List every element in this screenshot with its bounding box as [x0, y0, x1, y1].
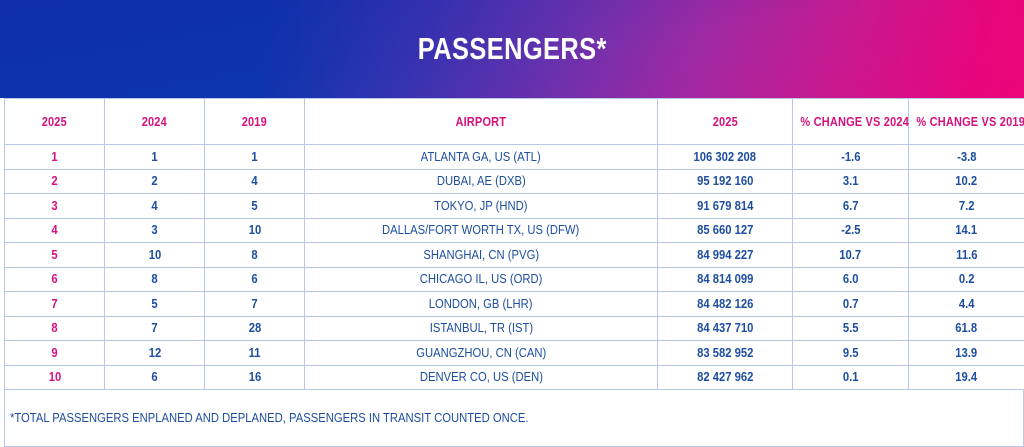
- cell-rank-2025-text: 2: [51, 174, 57, 188]
- cell-rank-2024: 8: [105, 267, 205, 292]
- cell-pct-change-2024: 6.0: [793, 267, 909, 292]
- cell-pct-change-2019: 19.4: [909, 365, 1024, 390]
- cell-pct-change-2024-text: 0.1: [843, 370, 859, 384]
- cell-rank-2019: 1: [205, 145, 305, 170]
- table-body: 111ATLANTA GA, US (ATL)106 302 208-1.6-3…: [5, 145, 1024, 390]
- cell-rank-2024: 3: [105, 218, 205, 243]
- cell-rank-2024: 2: [105, 169, 205, 194]
- cell-passengers-2025-text: 85 660 127: [697, 223, 753, 237]
- table-row: 5108SHANGHAI, CN (PVG)84 994 22710.711.6: [5, 243, 1024, 268]
- cell-rank-2024: 5: [105, 292, 205, 317]
- cell-rank-2024-text: 3: [151, 223, 157, 237]
- cell-pct-change-2019: 10.2: [909, 169, 1024, 194]
- table-row: 8728ISTANBUL, TR (IST)84 437 7105.561.8: [5, 316, 1024, 341]
- cell-pct-change-2019: 7.2: [909, 194, 1024, 219]
- cell-pct-change-2024-text: 9.5: [843, 346, 859, 360]
- column-header-rank-2025: 2025: [5, 99, 105, 145]
- page-title: PASSENGERS*: [417, 31, 606, 67]
- cell-pct-change-2019-text: 61.8: [956, 321, 978, 335]
- cell-rank-2025: 3: [5, 194, 105, 219]
- cell-airport: ATLANTA GA, US (ATL): [305, 145, 658, 170]
- cell-pct-change-2019-text: -3.8: [957, 150, 976, 164]
- cell-rank-2019-text: 16: [248, 370, 261, 384]
- cell-rank-2019-text: 11: [249, 346, 261, 360]
- cell-pct-change-2024: 6.7: [793, 194, 909, 219]
- table-container: 2025 2024 2019 AIRPORT 2025 % CHANGE VS …: [0, 98, 1024, 447]
- cell-passengers-2025: 83 582 952: [658, 341, 793, 366]
- cell-rank-2025-text: 1: [51, 150, 57, 164]
- cell-passengers-2025: 84 994 227: [658, 243, 793, 268]
- cell-rank-2025: 4: [5, 218, 105, 243]
- cell-rank-2019: 6: [205, 267, 305, 292]
- cell-passengers-2025: 91 679 814: [658, 194, 793, 219]
- cell-pct-change-2019-text: 19.4: [956, 370, 978, 384]
- cell-rank-2024: 12: [105, 341, 205, 366]
- cell-rank-2019-text: 1: [251, 150, 257, 164]
- cell-pct-change-2019-text: 4.4: [959, 297, 975, 311]
- cell-passengers-2025: 84 437 710: [658, 316, 793, 341]
- cell-rank-2025: 2: [5, 169, 105, 194]
- cell-pct-change-2024: -2.5: [793, 218, 909, 243]
- cell-passengers-2025-text: 84 994 227: [697, 248, 753, 262]
- table-row: 91211GUANGZHOU, CN (CAN)83 582 9529.513.…: [5, 341, 1024, 366]
- cell-rank-2024: 6: [105, 365, 205, 390]
- cell-pct-change-2019: 61.8: [909, 316, 1024, 341]
- cell-rank-2025: 9: [5, 341, 105, 366]
- cell-pct-change-2024: 9.5: [793, 341, 909, 366]
- passengers-ranking-page: PASSENGERS* 2025 2024 2019 AIRPORT 2025 …: [0, 0, 1024, 436]
- cell-airport-text: GUANGZHOU, CN (CAN): [416, 346, 546, 360]
- cell-rank-2019: 28: [205, 316, 305, 341]
- cell-rank-2024-text: 12: [148, 346, 161, 360]
- cell-rank-2024: 4: [105, 194, 205, 219]
- cell-rank-2019: 8: [205, 243, 305, 268]
- cell-rank-2019: 4: [205, 169, 305, 194]
- cell-airport-text: TOKYO, JP (HND): [434, 199, 527, 213]
- cell-rank-2024-text: 4: [151, 199, 157, 213]
- cell-rank-2025: 1: [5, 145, 105, 170]
- table-row: 4310DALLAS/FORT WORTH TX, US (DFW)85 660…: [5, 218, 1024, 243]
- cell-rank-2025-text: 4: [51, 223, 57, 237]
- cell-airport-text: DUBAI, AE (DXB): [437, 174, 526, 188]
- cell-airport: DALLAS/FORT WORTH TX, US (DFW): [305, 218, 658, 243]
- column-header-airport: AIRPORT: [305, 99, 658, 145]
- cell-pct-change-2024: 0.1: [793, 365, 909, 390]
- cell-airport: ISTANBUL, TR (IST): [305, 316, 658, 341]
- cell-passengers-2025-text: 95 192 160: [697, 174, 753, 188]
- cell-airport-text: SHANGHAI, CN (PVG): [423, 248, 539, 262]
- column-header-passengers-2025: 2025: [658, 99, 793, 145]
- cell-pct-change-2024-text: -1.6: [841, 150, 860, 164]
- cell-passengers-2025-text: 106 302 208: [694, 150, 757, 164]
- cell-airport: DUBAI, AE (DXB): [305, 169, 658, 194]
- cell-passengers-2025: 85 660 127: [658, 218, 793, 243]
- cell-rank-2024: 10: [105, 243, 205, 268]
- cell-pct-change-2024-text: 6.0: [843, 272, 859, 286]
- cell-rank-2025-text: 10: [48, 370, 61, 384]
- cell-passengers-2025: 82 427 962: [658, 365, 793, 390]
- cell-airport-text: ISTANBUL, TR (IST): [429, 321, 532, 335]
- cell-rank-2025: 7: [5, 292, 105, 317]
- cell-pct-change-2024: 10.7: [793, 243, 909, 268]
- cell-airport-text: DALLAS/FORT WORTH TX, US (DFW): [382, 223, 579, 237]
- cell-pct-change-2019: -3.8: [909, 145, 1024, 170]
- cell-rank-2019-text: 10: [248, 223, 261, 237]
- cell-rank-2019-text: 5: [251, 199, 257, 213]
- table-row: 224DUBAI, AE (DXB)95 192 1603.110.2: [5, 169, 1024, 194]
- page-banner: PASSENGERS*: [0, 0, 1024, 98]
- cell-pct-change-2024-text: 3.1: [843, 174, 859, 188]
- cell-passengers-2025: 106 302 208: [658, 145, 793, 170]
- cell-pct-change-2019: 13.9: [909, 341, 1024, 366]
- cell-rank-2025: 5: [5, 243, 105, 268]
- cell-rank-2019-text: 6: [251, 272, 257, 286]
- cell-rank-2025-text: 9: [51, 346, 57, 360]
- cell-pct-change-2019: 14.1: [909, 218, 1024, 243]
- cell-passengers-2025-text: 84 437 710: [697, 321, 753, 335]
- table-row: 757LONDON, GB (LHR)84 482 1260.74.4: [5, 292, 1024, 317]
- cell-pct-change-2024: 5.5: [793, 316, 909, 341]
- cell-rank-2019-text: 8: [251, 248, 257, 262]
- cell-passengers-2025: 95 192 160: [658, 169, 793, 194]
- cell-rank-2024-text: 10: [148, 248, 161, 262]
- cell-passengers-2025-text: 83 582 952: [697, 346, 753, 360]
- cell-airport: CHICAGO IL, US (ORD): [305, 267, 658, 292]
- cell-rank-2025-text: 8: [51, 321, 57, 335]
- column-header-rank-2019: 2019: [205, 99, 305, 145]
- footnote-text: *TOTAL PASSENGERS ENPLANED AND DEPLANED,…: [10, 411, 528, 425]
- cell-pct-change-2019: 4.4: [909, 292, 1024, 317]
- cell-rank-2019: 10: [205, 218, 305, 243]
- column-header-pct-change-2024: % CHANGE VS 2024: [793, 99, 909, 145]
- cell-rank-2025: 6: [5, 267, 105, 292]
- cell-airport: SHANGHAI, CN (PVG): [305, 243, 658, 268]
- cell-pct-change-2019-text: 11.6: [956, 248, 977, 262]
- cell-rank-2024-text: 2: [151, 174, 157, 188]
- cell-rank-2019-text: 4: [251, 174, 257, 188]
- cell-rank-2025-text: 6: [51, 272, 57, 286]
- cell-rank-2025: 10: [5, 365, 105, 390]
- cell-pct-change-2024: -1.6: [793, 145, 909, 170]
- cell-rank-2025-text: 7: [51, 297, 57, 311]
- cell-pct-change-2024-text: 5.5: [843, 321, 859, 335]
- header-row: 2025 2024 2019 AIRPORT 2025 % CHANGE VS …: [5, 99, 1024, 145]
- column-header-pct-change-2019: % CHANGE VS 2019: [909, 99, 1024, 145]
- cell-airport: GUANGZHOU, CN (CAN): [305, 341, 658, 366]
- column-header-rank-2024: 2024: [105, 99, 205, 145]
- cell-rank-2019-text: 7: [251, 297, 257, 311]
- cell-rank-2024-text: 6: [151, 370, 157, 384]
- cell-passengers-2025-text: 84 482 126: [697, 297, 753, 311]
- table-row: 111ATLANTA GA, US (ATL)106 302 208-1.6-3…: [5, 145, 1024, 170]
- footnote-container: *TOTAL PASSENGERS ENPLANED AND DEPLANED,…: [4, 390, 1024, 447]
- cell-airport-text: CHICAGO IL, US (ORD): [420, 272, 543, 286]
- cell-rank-2024-text: 5: [151, 297, 157, 311]
- cell-rank-2024-text: 8: [151, 272, 157, 286]
- cell-pct-change-2024-text: 6.7: [843, 199, 859, 213]
- cell-pct-change-2019-text: 10.2: [956, 174, 978, 188]
- cell-passengers-2025-text: 84 814 099: [697, 272, 753, 286]
- cell-airport: TOKYO, JP (HND): [305, 194, 658, 219]
- cell-airport: DENVER CO, US (DEN): [305, 365, 658, 390]
- cell-pct-change-2024: 3.1: [793, 169, 909, 194]
- table-row: 686CHICAGO IL, US (ORD)84 814 0996.00.2: [5, 267, 1024, 292]
- cell-rank-2025-text: 3: [51, 199, 57, 213]
- cell-pct-change-2019: 0.2: [909, 267, 1024, 292]
- cell-airport: LONDON, GB (LHR): [305, 292, 658, 317]
- cell-airport-text: ATLANTA GA, US (ATL): [421, 150, 541, 164]
- cell-pct-change-2019-text: 14.1: [956, 223, 978, 237]
- cell-rank-2024-text: 7: [151, 321, 157, 335]
- cell-passengers-2025-text: 91 679 814: [697, 199, 753, 213]
- cell-pct-change-2024-text: -2.5: [841, 223, 860, 237]
- cell-airport-text: LONDON, GB (LHR): [429, 297, 533, 311]
- cell-rank-2025-text: 5: [51, 248, 57, 262]
- table-header: 2025 2024 2019 AIRPORT 2025 % CHANGE VS …: [5, 99, 1024, 145]
- cell-pct-change-2019-text: 13.9: [956, 346, 978, 360]
- cell-rank-2024: 1: [105, 145, 205, 170]
- passengers-table: 2025 2024 2019 AIRPORT 2025 % CHANGE VS …: [4, 98, 1024, 390]
- cell-pct-change-2024-text: 10.7: [840, 248, 862, 262]
- cell-rank-2019: 7: [205, 292, 305, 317]
- cell-passengers-2025-text: 82 427 962: [697, 370, 753, 384]
- table-row: 10616DENVER CO, US (DEN)82 427 9620.119.…: [5, 365, 1024, 390]
- cell-rank-2019-text: 28: [248, 321, 261, 335]
- cell-rank-2024-text: 1: [151, 150, 157, 164]
- cell-pct-change-2019: 11.6: [909, 243, 1024, 268]
- cell-rank-2019: 16: [205, 365, 305, 390]
- cell-rank-2024: 7: [105, 316, 205, 341]
- cell-rank-2025: 8: [5, 316, 105, 341]
- cell-rank-2019: 11: [205, 341, 305, 366]
- cell-pct-change-2019-text: 7.2: [959, 199, 975, 213]
- cell-pct-change-2019-text: 0.2: [959, 272, 975, 286]
- cell-passengers-2025: 84 814 099: [658, 267, 793, 292]
- cell-airport-text: DENVER CO, US (DEN): [419, 370, 542, 384]
- cell-pct-change-2024-text: 0.7: [843, 297, 859, 311]
- cell-rank-2019: 5: [205, 194, 305, 219]
- cell-passengers-2025: 84 482 126: [658, 292, 793, 317]
- table-row: 345TOKYO, JP (HND)91 679 8146.77.2: [5, 194, 1024, 219]
- cell-pct-change-2024: 0.7: [793, 292, 909, 317]
